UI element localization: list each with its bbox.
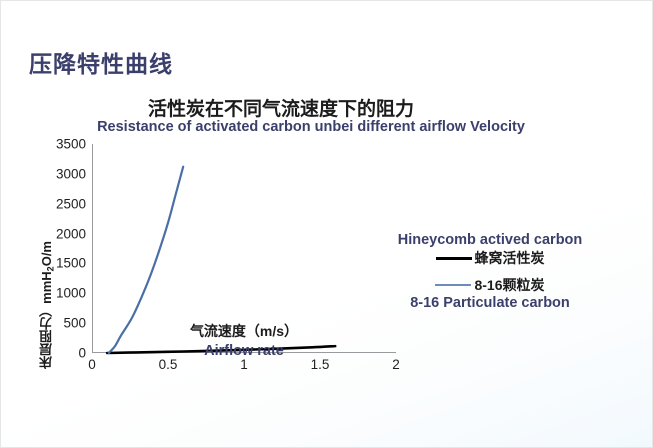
x-axis-tick-label: 0 bbox=[88, 357, 96, 372]
slide-canvas: 压降特性曲线 活性炭在不同气流速度下的阻力 Resistance of acti… bbox=[0, 0, 653, 448]
y-axis-tick-label: 1500 bbox=[56, 256, 86, 271]
x-axis-tick-label: 2 bbox=[392, 357, 400, 372]
y-axis-tick-label: 500 bbox=[63, 316, 86, 331]
y-axis-tick-label: 3000 bbox=[56, 166, 86, 181]
x-axis-tick-label: 0.5 bbox=[159, 357, 178, 372]
legend-item-2: 8-16颗粒炭 bbox=[375, 276, 605, 294]
legend-item-2-chinese: 8-16颗粒炭 bbox=[474, 276, 544, 294]
x-axis-label-chinese: 气流速度（m/s） bbox=[92, 321, 396, 341]
x-axis-tick-label: 1 bbox=[240, 357, 248, 372]
x-axis-label-english: Airflow rate bbox=[92, 343, 396, 359]
page-title: 压降特性曲线 bbox=[29, 45, 173, 79]
y-axis-tick-label: 0 bbox=[78, 346, 86, 361]
legend-spacer bbox=[375, 267, 605, 276]
legend-item-1: 蜂窝活性炭 bbox=[375, 249, 605, 267]
y-axis-tick-label: 3500 bbox=[56, 137, 86, 152]
y-axis-tick-label: 2000 bbox=[56, 226, 86, 241]
y-axis-tick-label: 2500 bbox=[56, 196, 86, 211]
legend-swatch-particulate bbox=[435, 284, 471, 286]
chart-title-chinese: 活性炭在不同气流速度下的阻力 bbox=[1, 94, 561, 121]
chart-container: 活性炭在不同气流速度下的阻力 Resistance of activated c… bbox=[1, 89, 653, 429]
y-axis-label: 床层阻力）mmH2O/m bbox=[37, 241, 55, 369]
chart-title-english: Resistance of activated carbon unbei dif… bbox=[1, 119, 621, 135]
legend-item-1-chinese: 蜂窝活性炭 bbox=[475, 249, 545, 267]
legend-item-1-english: Hineycomb actived carbon bbox=[375, 231, 605, 249]
legend-item-2-english: 8-16 Particulate carbon bbox=[375, 294, 605, 312]
y-axis-tick-label: 1000 bbox=[56, 286, 86, 301]
chart-legend: Hineycomb actived carbon 蜂窝活性炭 8-16颗粒炭 8… bbox=[375, 231, 605, 312]
x-axis-tick-label: 1.5 bbox=[311, 357, 330, 372]
legend-swatch-honeycomb bbox=[436, 257, 472, 260]
